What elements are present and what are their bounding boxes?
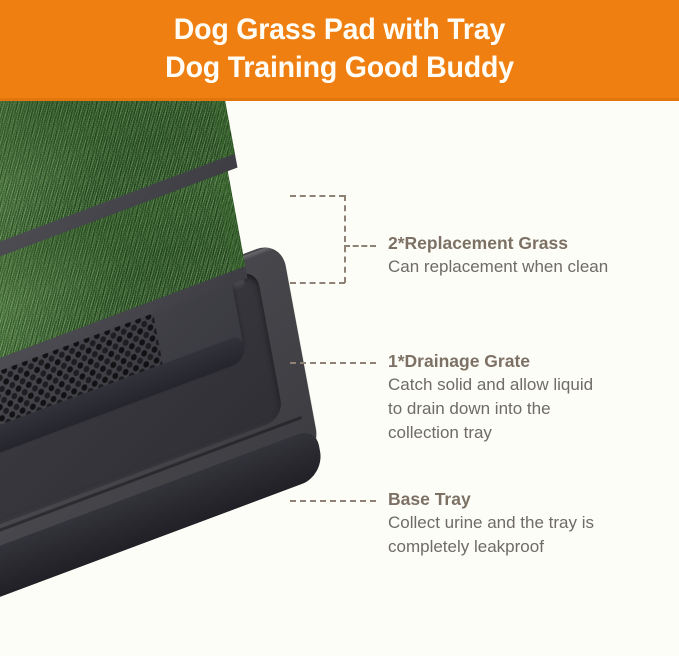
callout-base-tray-description: Collect urine and the tray is completely… bbox=[388, 511, 594, 559]
callout-base-tray-title: Base Tray bbox=[388, 488, 594, 511]
leader-tray-segment bbox=[290, 500, 376, 502]
product-infographic: Dog Grass Pad with Tray Dog Training Goo… bbox=[0, 0, 679, 656]
header-banner: Dog Grass Pad with Tray Dog Training Goo… bbox=[0, 0, 679, 101]
callout-replacement-grass-description: Can replacement when clean bbox=[388, 255, 608, 279]
leader-stub-segment bbox=[344, 245, 376, 247]
callout-replacement-grass: 2*Replacement Grass Can replacement when… bbox=[388, 232, 608, 279]
callout-drainage-grate-title: 1*Drainage Grate bbox=[388, 350, 593, 373]
callout-base-tray: Base Tray Collect urine and the tray is … bbox=[388, 488, 594, 559]
leader-grate-segment bbox=[290, 362, 376, 364]
banner-title-line-2: Dog Training Good Buddy bbox=[165, 49, 514, 87]
callout-drainage-grate: 1*Drainage Grate Catch solid and allow l… bbox=[388, 350, 593, 445]
banner-title-line-1: Dog Grass Pad with Tray bbox=[174, 11, 505, 49]
callout-replacement-grass-title: 2*Replacement Grass bbox=[388, 232, 608, 255]
leader-bottom-segment bbox=[290, 282, 345, 284]
leader-vertical-segment bbox=[344, 195, 346, 283]
leader-top-segment bbox=[290, 195, 345, 197]
callout-drainage-grate-description: Catch solid and allow liquid to drain do… bbox=[388, 373, 593, 445]
